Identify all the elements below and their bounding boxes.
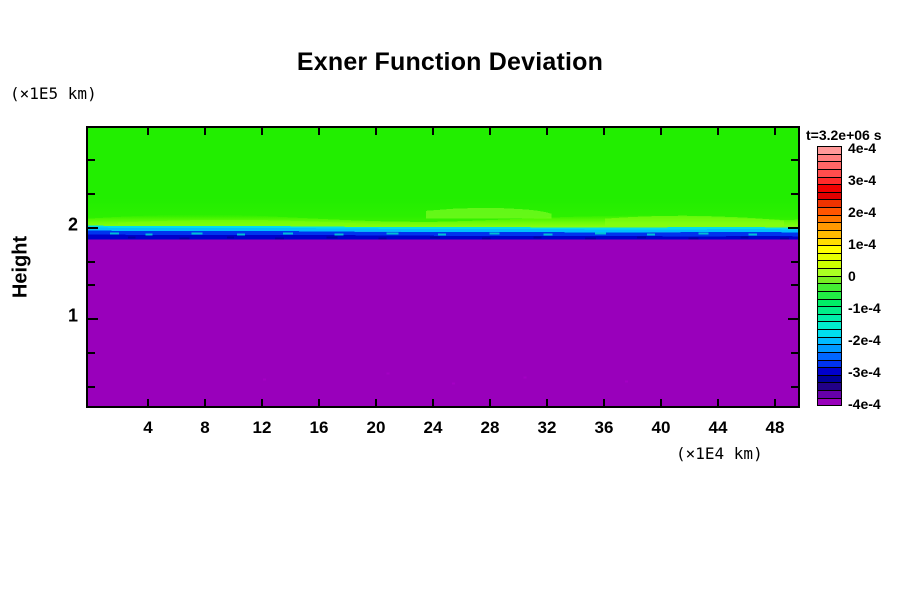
colorbar-swatch xyxy=(818,170,841,178)
colorbar-swatch xyxy=(818,399,841,406)
y-tick-mark xyxy=(791,159,798,161)
x-tick-mark xyxy=(489,399,491,406)
colorbar-swatch xyxy=(818,376,841,384)
y-tick-mark xyxy=(788,227,798,229)
y-tick-label: 2 xyxy=(68,215,78,236)
colorbar-tick-label: -3e-4 xyxy=(848,364,881,380)
y-tick-mark xyxy=(788,318,798,320)
x-tick-label: 16 xyxy=(310,418,329,438)
y-axis-title: Height xyxy=(10,236,33,298)
contour-plot-area xyxy=(86,126,800,408)
colorbar-swatch xyxy=(818,193,841,201)
colorbar-swatch xyxy=(818,284,841,292)
colorbar-swatch xyxy=(818,277,841,285)
colorbar-swatch xyxy=(818,307,841,315)
y-tick-mark xyxy=(88,227,98,229)
x-tick-mark xyxy=(717,128,719,135)
colorbar-swatch xyxy=(818,246,841,254)
colorbar-swatch xyxy=(818,330,841,338)
colorbar-swatch xyxy=(818,216,841,224)
y-tick-mark xyxy=(88,261,95,263)
colorbar-tick-label: -4e-4 xyxy=(848,396,881,412)
x-tick-mark xyxy=(261,128,263,135)
x-tick-mark xyxy=(774,128,776,135)
colorbar-tick-label: 2e-4 xyxy=(848,204,876,220)
y-tick-mark xyxy=(88,193,95,195)
page-title: Exner Function Deviation xyxy=(0,48,900,77)
colorbar xyxy=(817,146,842,406)
x-tick-mark xyxy=(717,399,719,406)
x-tick-label: 4 xyxy=(143,418,152,438)
colorbar-swatch xyxy=(818,208,841,216)
x-tick-mark xyxy=(774,399,776,406)
colorbar-labels: 4e-4 3e-4 2e-4 1e-4 0 -1e-4 -2e-4 -3e-4 … xyxy=(848,146,900,406)
x-tick-label: 36 xyxy=(595,418,614,438)
x-tick-mark xyxy=(603,128,605,135)
colorbar-swatch xyxy=(818,353,841,361)
x-tick-mark xyxy=(318,128,320,135)
colorbar-tick-label: 1e-4 xyxy=(848,236,876,252)
colorbar-swatch xyxy=(818,391,841,399)
colorbar-swatch xyxy=(818,300,841,308)
x-tick-mark xyxy=(660,399,662,406)
colorbar-swatch xyxy=(818,231,841,239)
x-tick-label: 32 xyxy=(538,418,557,438)
colorbar-swatch xyxy=(818,200,841,208)
x-tick-label: 20 xyxy=(367,418,386,438)
colorbar-tick-label: -1e-4 xyxy=(848,300,881,316)
x-tick-mark xyxy=(660,128,662,135)
colorbar-swatch xyxy=(818,338,841,346)
colorbar-swatch xyxy=(818,383,841,391)
x-tick-mark xyxy=(147,128,149,135)
x-tick-mark xyxy=(432,128,434,135)
colorbar-swatch xyxy=(818,269,841,277)
colorbar-swatch xyxy=(818,223,841,231)
colorbar-swatch xyxy=(818,239,841,247)
x-tick-mark xyxy=(432,399,434,406)
exner-deviation-field xyxy=(88,128,798,406)
colorbar-tick-label: 3e-4 xyxy=(848,172,876,188)
colorbar-swatch xyxy=(818,315,841,323)
x-tick-label: 12 xyxy=(253,418,272,438)
y-tick-mark xyxy=(791,284,798,286)
colorbar-swatch xyxy=(818,261,841,269)
y-tick-mark xyxy=(791,386,798,388)
colorbar-swatch xyxy=(818,254,841,262)
colorbar-swatch xyxy=(818,155,841,163)
y-tick-mark xyxy=(88,352,95,354)
x-tick-label: 28 xyxy=(481,418,500,438)
colorbar-swatch xyxy=(818,345,841,353)
colorbar-tick-label: 4e-4 xyxy=(848,140,876,156)
y-tick-mark xyxy=(791,352,798,354)
x-tick-mark xyxy=(261,399,263,406)
y-tick-mark xyxy=(791,193,798,195)
x-tick-mark xyxy=(204,128,206,135)
x-tick-mark xyxy=(546,128,548,135)
colorbar-swatch xyxy=(818,368,841,376)
colorbar-swatch xyxy=(818,178,841,186)
colorbar-swatch xyxy=(818,147,841,155)
colorbar-swatch xyxy=(818,162,841,170)
colorbar-tick-label: 0 xyxy=(848,268,856,284)
x-tick-mark xyxy=(489,128,491,135)
colorbar-swatch xyxy=(818,292,841,300)
y-tick-mark xyxy=(88,284,95,286)
y-tick-mark xyxy=(88,318,98,320)
x-tick-mark xyxy=(204,399,206,406)
y-tick-mark xyxy=(88,386,95,388)
x-tick-label: 40 xyxy=(652,418,671,438)
y-tick-mark xyxy=(791,261,798,263)
colorbar-swatch xyxy=(818,322,841,330)
x-tick-mark xyxy=(147,399,149,406)
colorbar-tick-label: -2e-4 xyxy=(848,332,881,348)
x-tick-mark xyxy=(375,399,377,406)
x-tick-mark xyxy=(603,399,605,406)
x-tick-label: 24 xyxy=(424,418,443,438)
y-tick-mark xyxy=(88,159,95,161)
x-axis-unit-label: (×1E4 km) xyxy=(676,444,763,463)
x-tick-label: 8 xyxy=(200,418,209,438)
x-tick-label: 48 xyxy=(766,418,785,438)
x-tick-label: 44 xyxy=(709,418,728,438)
x-tick-mark xyxy=(318,399,320,406)
y-tick-label: 1 xyxy=(68,306,78,327)
colorbar-swatch xyxy=(818,185,841,193)
x-tick-mark xyxy=(375,128,377,135)
x-tick-mark xyxy=(546,399,548,406)
colorbar-swatch xyxy=(818,361,841,369)
